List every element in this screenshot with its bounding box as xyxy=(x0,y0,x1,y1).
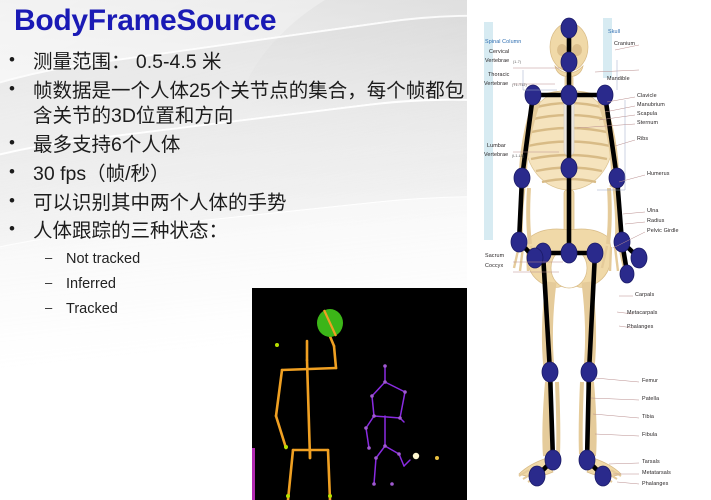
anatomy-label-sternum: Sternum xyxy=(637,120,658,126)
bullet-item-2: 帧数据是一个人体25个关节点的集合，每个帧都包含关节的3D位置和方向 xyxy=(0,79,470,130)
anatomy-label-patella: Patella xyxy=(642,396,659,402)
tracked-skeleton-orange xyxy=(276,322,336,500)
bullet-item-5: 可以识别其中两个人体的手势 xyxy=(0,191,470,217)
anatomy-label-sacrum: Sacrum xyxy=(485,253,504,259)
joint-foot-right xyxy=(595,466,611,486)
joint-dot-orange xyxy=(328,494,332,498)
anatomy-label-lumbar-range: (L1-L5) xyxy=(512,154,524,158)
joint-knee-left xyxy=(542,362,558,382)
anatomy-label-thoracic: Thoracic xyxy=(488,72,509,78)
anatomy-label-ribs: Ribs xyxy=(637,136,648,142)
joint-wrist-left xyxy=(511,232,527,252)
anatomy-label-tarsals: Tarsals xyxy=(642,459,660,465)
joint-neck xyxy=(561,52,577,72)
joint-dot-orange xyxy=(284,445,288,449)
joint-spine-base xyxy=(561,243,577,263)
joint-hand-right xyxy=(631,248,647,268)
joint-ankle-right xyxy=(579,450,595,470)
anatomy-label-radius: Radius xyxy=(647,218,664,224)
slide-canvas: BodyFrameSource 测量范围： 0.5-4.5 米 帧数据是一个人体… xyxy=(0,0,711,500)
skeleton-anatomy-chart: Spinal Column Cervical Vertebrae (1-7) T… xyxy=(467,0,711,500)
anatomy-label-cervical: Cervical xyxy=(489,49,509,55)
joint-dot-orange xyxy=(286,494,290,498)
joint-head xyxy=(561,18,577,38)
joint-ankle-left xyxy=(545,450,561,470)
joint-wrist-right xyxy=(614,232,630,252)
joint-elbow-right xyxy=(609,168,625,188)
slide-title: BodyFrameSource xyxy=(14,4,276,37)
joint-spine-mid xyxy=(561,158,577,178)
anatomy-label-mandible: Mandible xyxy=(607,76,630,82)
inferred-skeleton-purple xyxy=(366,366,410,484)
anatomy-label-lumbar: Lumbar xyxy=(487,143,506,149)
anatomy-label-manubrium: Manubrium xyxy=(637,102,665,108)
joint-dot-yellow xyxy=(435,456,439,460)
anatomy-label-cervical-range: (1-7) xyxy=(513,60,521,64)
hand-state-open-indicator xyxy=(413,453,419,459)
anatomy-label-thoracic-range: (T1-T12) xyxy=(512,83,527,87)
anatomy-label-skull: Skull xyxy=(608,29,620,35)
joint-shoulder-right xyxy=(597,85,613,105)
joint-shoulder-left xyxy=(525,85,541,105)
anatomy-label-pelvic-girdle: Pelvic Girdle xyxy=(647,228,679,234)
anatomy-label-carpals: Carpals xyxy=(635,292,654,298)
anatomy-label-fibula: Fibula xyxy=(642,432,657,438)
joint-elbow-left xyxy=(514,168,530,188)
joint-hand-left xyxy=(527,248,543,268)
joint-hip-right xyxy=(587,243,603,263)
joint-foot-left xyxy=(529,466,545,486)
sub-bullet-not-tracked: Not tracked xyxy=(0,248,470,270)
joint-knee-right xyxy=(581,362,597,382)
bullet-list: 测量范围： 0.5-4.5 米 帧数据是一个人体25个关节点的集合，每个帧都包含… xyxy=(0,50,470,320)
anatomy-label-cranium: Cranium xyxy=(614,41,635,47)
anatomy-label-lumbar-vertebrae: Vertebrae xyxy=(484,152,508,158)
anatomy-label-metatarsals: Metatarsals xyxy=(642,470,671,476)
bullet-item-4: 30 fps（帧/秒） xyxy=(0,162,470,188)
anatomy-label-spinal-column: Spinal Column xyxy=(485,39,521,45)
anatomy-label-femur: Femur xyxy=(642,378,658,384)
bullet-item-1: 测量范围： 0.5-4.5 米 xyxy=(0,50,470,76)
anatomy-label-metacarpals: Metacarpals xyxy=(627,310,657,316)
body-tracking-video-panel xyxy=(252,288,467,500)
anatomy-label-coccyx: Coccyx xyxy=(485,263,503,269)
anatomy-label-humerus: Humerus xyxy=(647,171,670,177)
joint-spine-shoulder xyxy=(561,85,577,105)
bullet-item-3: 最多支持6个人体 xyxy=(0,133,470,159)
joint-dot-orange xyxy=(275,343,279,347)
anatomy-label-ulna: Ulna xyxy=(647,208,659,214)
joint-thumb-right xyxy=(620,265,634,283)
bullet-item-6: 人体跟踪的三种状态： xyxy=(0,219,470,245)
anatomy-label-tibia: Tibia xyxy=(642,414,654,420)
anatomy-label-cervical-vertebrae: Vertebrae xyxy=(485,58,509,64)
tracking-skeleton-overlay xyxy=(252,288,467,500)
anatomy-label-clavicle: Clavicle xyxy=(637,93,657,99)
anatomy-label-phalanges-foot: Phalanges xyxy=(642,481,668,487)
anatomy-label-thoracic-vertebrae: Vertebrae xyxy=(484,81,508,87)
anatomy-label-scapula: Scapula xyxy=(637,111,657,117)
anatomy-label-phalanges-hand: Phalanges xyxy=(627,324,653,330)
